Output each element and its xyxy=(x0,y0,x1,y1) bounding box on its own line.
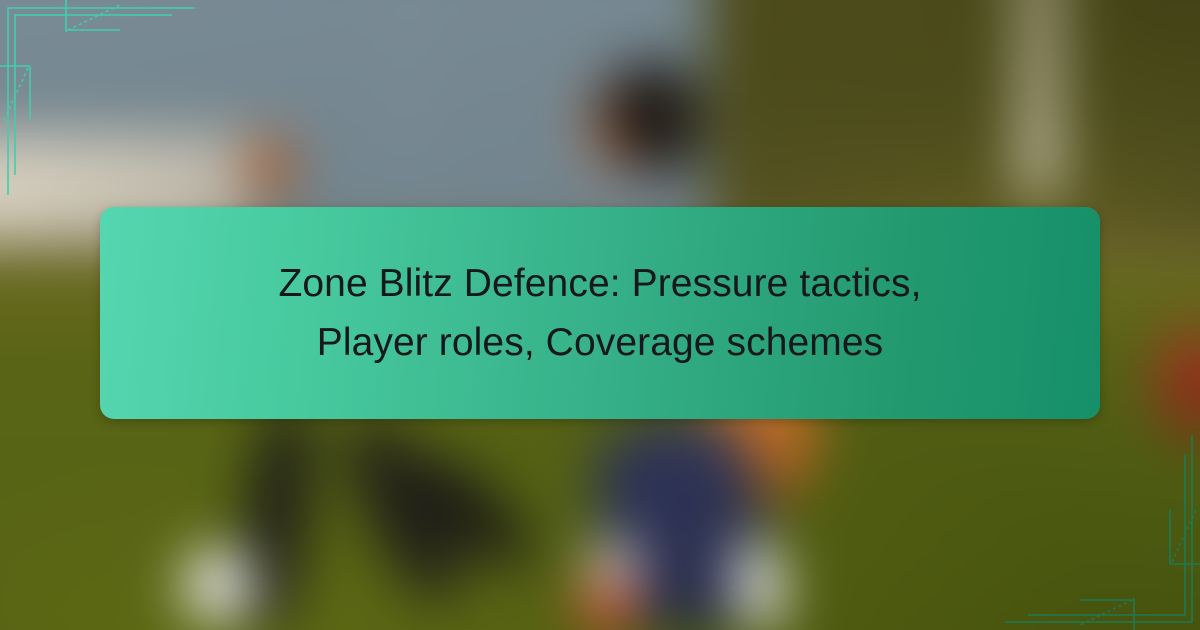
social-card-canvas: Zone Blitz Defence: Pressure tactics, Pl… xyxy=(0,0,1200,630)
background-football xyxy=(185,548,256,623)
headline-card: Zone Blitz Defence: Pressure tactics, Pl… xyxy=(100,207,1100,419)
page-title: Zone Blitz Defence: Pressure tactics, Pl… xyxy=(220,254,980,372)
background-post xyxy=(1018,0,1061,195)
background-red-object xyxy=(1156,330,1200,435)
background-spectator xyxy=(247,134,293,202)
background-floodlight-pole xyxy=(403,0,414,172)
